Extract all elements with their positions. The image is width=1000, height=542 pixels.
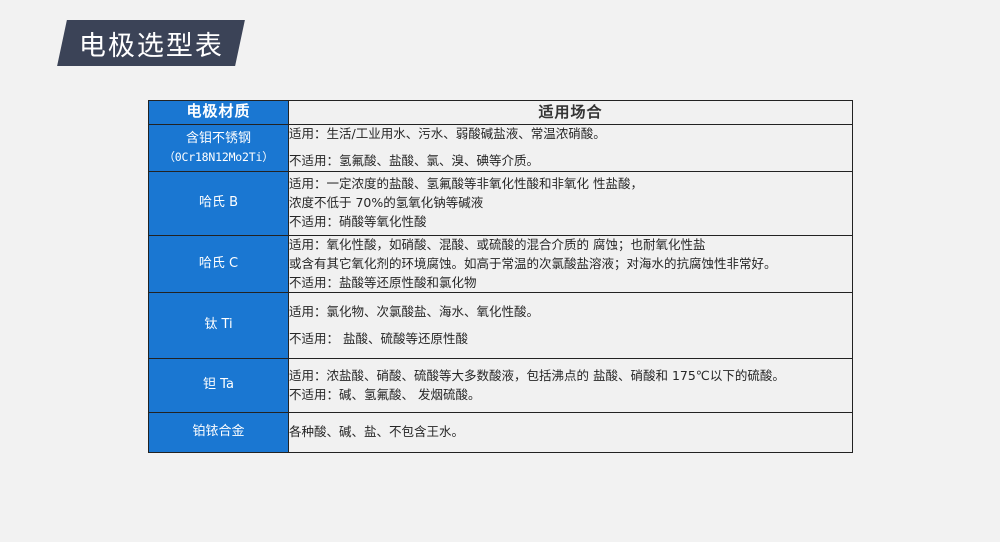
usage-line: 或含有其它氧化剂的环境腐蚀。如高于常温的次氯酸盐溶液；对海水的抗腐蚀性非常好。 [289,255,852,274]
material-name: 钛 Ti [149,316,288,335]
usage-line: 适用：氯化物、次氯酸盐、海水、氧化性酸。 [289,303,852,322]
table-row: 含钼不锈钢（0Cr18N12Mo2Ti）适用：生活/工业用水、污水、弱酸碱盐液、… [149,124,853,172]
usage-line: 适用：一定浓度的盐酸、氢氟酸等非氧化性酸和非氧化 性盐酸， [289,175,852,194]
table-row: 哈氏 C适用：氧化性酸，如硝酸、混酸、或硫酸的混合介质的 腐蚀；也耐氧化性盐或含… [149,236,853,293]
usage-cell: 适用：一定浓度的盐酸、氢氟酸等非氧化性酸和非氧化 性盐酸，浓度不低于 70%的氢… [289,172,853,236]
page-title: 电极选型表 [79,24,224,63]
material-name: 哈氏 C [149,255,288,274]
table-row: 铂铱合金各种酸、碱、盐、不包含王水。 [149,413,853,453]
material-cell: 哈氏 B [149,172,289,236]
usage-cell: 适用：生活/工业用水、污水、弱酸碱盐液、常温浓硝酸。不适用：氢氟酸、盐酸、氯、溴… [289,124,853,172]
usage-line: 适用：生活/工业用水、污水、弱酸碱盐液、常温浓硝酸。 [289,125,852,144]
column-header-usage: 适用场合 [289,101,853,125]
usage-line: 不适用： 盐酸、硫酸等还原性酸 [289,330,852,349]
material-cell: 哈氏 C [149,236,289,293]
material-cell: 钽 Ta [149,359,289,413]
usage-line: 适用：氧化性酸，如硝酸、混酸、或硫酸的混合介质的 腐蚀；也耐氧化性盐 [289,236,852,255]
electrode-selection-table: 电极材质 适用场合 含钼不锈钢（0Cr18N12Mo2Ti）适用：生活/工业用水… [148,100,853,453]
table-row: 哈氏 B适用：一定浓度的盐酸、氢氟酸等非氧化性酸和非氧化 性盐酸，浓度不低于 7… [149,172,853,236]
usage-cell: 各种酸、碱、盐、不包含王水。 [289,413,853,453]
usage-line: 不适用：碱、氢氟酸、 发烟硫酸。 [289,386,852,405]
table-row: 钛 Ti适用：氯化物、次氯酸盐、海水、氧化性酸。不适用： 盐酸、硫酸等还原性酸 [149,293,853,359]
column-header-material: 电极材质 [149,101,289,125]
material-name: 钽 Ta [149,376,288,395]
material-name: 铂铱合金 [149,423,288,442]
table-body: 含钼不锈钢（0Cr18N12Mo2Ti）适用：生活/工业用水、污水、弱酸碱盐液、… [149,124,853,453]
page-title-banner: 电极选型表 [57,20,245,66]
material-name: 哈氏 B [149,194,288,213]
material-code: （0Cr18N12Mo2Ti） [149,149,288,166]
table-row: 钽 Ta适用：浓盐酸、硝酸、硫酸等大多数酸液，包括沸点的 盐酸、硝酸和 175℃… [149,359,853,413]
material-cell: 钛 Ti [149,293,289,359]
usage-line: 浓度不低于 70%的氢氧化钠等碱液 [289,194,852,213]
material-name: 含钼不锈钢 [149,130,288,149]
usage-line: 各种酸、碱、盐、不包含王水。 [289,423,852,442]
usage-line: 不适用：氢氟酸、盐酸、氯、溴、碘等介质。 [289,152,852,171]
usage-line: 适用：浓盐酸、硝酸、硫酸等大多数酸液，包括沸点的 盐酸、硝酸和 175℃以下的硫… [289,367,852,386]
usage-cell: 适用：浓盐酸、硝酸、硫酸等大多数酸液，包括沸点的 盐酸、硝酸和 175℃以下的硫… [289,359,853,413]
usage-line: 不适用：盐酸等还原性酸和氯化物 [289,274,852,293]
material-cell: 铂铱合金 [149,413,289,453]
usage-cell: 适用：氧化性酸，如硝酸、混酸、或硫酸的混合介质的 腐蚀；也耐氧化性盐或含有其它氧… [289,236,853,293]
material-cell: 含钼不锈钢（0Cr18N12Mo2Ti） [149,124,289,172]
table-header-row: 电极材质 适用场合 [149,101,853,125]
usage-cell: 适用：氯化物、次氯酸盐、海水、氧化性酸。不适用： 盐酸、硫酸等还原性酸 [289,293,853,359]
usage-line: 不适用：硝酸等氧化性酸 [289,213,852,232]
